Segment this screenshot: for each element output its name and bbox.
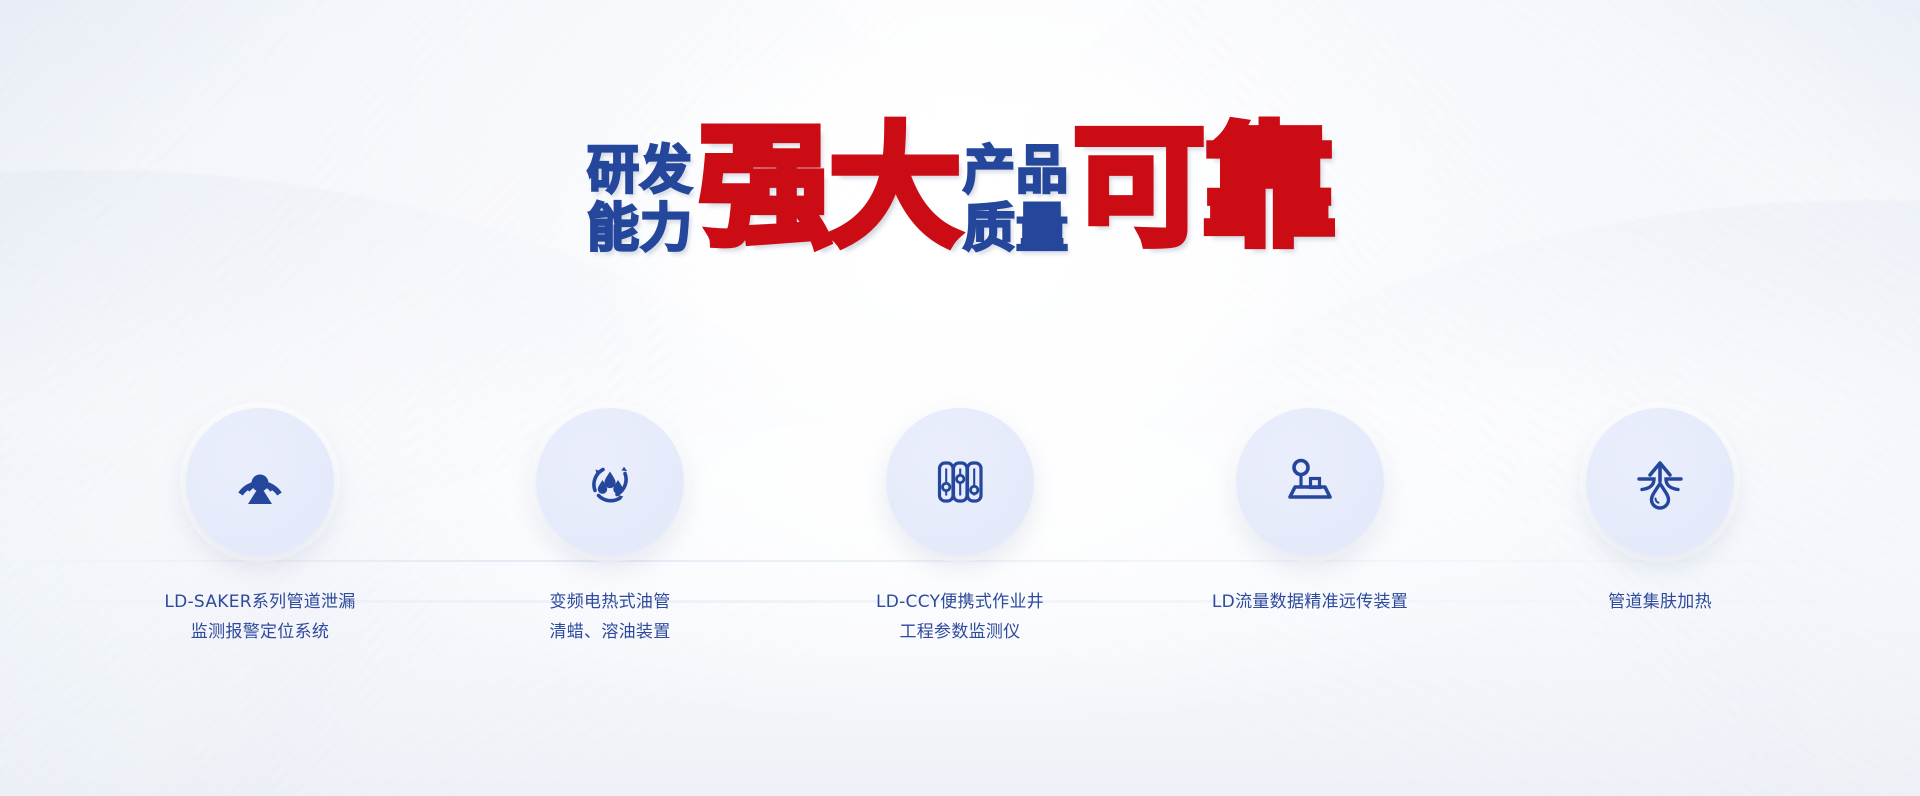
headline-strong-text: 强大 <box>699 128 959 249</box>
product-icon-disc[interactable] <box>1236 408 1384 556</box>
headline-rd-line1: 研发 <box>587 146 693 197</box>
product-list: LD-SAKER系列管道泄漏 监测报警定位系统 <box>0 408 1920 648</box>
product-label: LD-SAKER系列管道泄漏 监测报警定位系统 <box>164 588 355 648</box>
background-swoosh-right-2 <box>920 0 1920 796</box>
signal-broadcast-icon <box>223 445 297 519</box>
arrow-up-droplet-heating-icon <box>1623 445 1697 519</box>
product-icon-disc[interactable] <box>186 408 334 556</box>
product-icon-disc[interactable] <box>536 408 684 556</box>
product-item-pipeline-heating[interactable]: 管道集肤加热 <box>1510 408 1810 618</box>
background-swoosh-left-1 <box>0 0 1159 796</box>
product-icon-disc[interactable] <box>1586 408 1734 556</box>
headline-group-quality: 产品 质量 <box>963 146 1069 255</box>
joystick-control-icon <box>1273 445 1347 519</box>
headline-group-rd: 研发 能力 <box>587 146 693 255</box>
vertical-sliders-icon <box>923 445 997 519</box>
oil-recycle-droplet-icon <box>573 445 647 519</box>
product-label: LD流量数据精准远传装置 <box>1212 588 1408 618</box>
product-label: 管道集肤加热 <box>1608 588 1712 618</box>
headline-quality-line1: 产品 <box>963 146 1069 197</box>
product-label: 变频电热式油管 清蜡、溶油装置 <box>549 588 670 648</box>
product-item-ld-flow[interactable]: LD流量数据精准远传装置 <box>1160 408 1460 618</box>
product-item-ld-saker[interactable]: LD-SAKER系列管道泄漏 监测报警定位系统 <box>110 408 410 648</box>
promo-banner: 研发 能力 强大 产品 质量 可靠 <box>0 0 1920 796</box>
headline: 研发 能力 强大 产品 质量 可靠 <box>0 128 1920 255</box>
product-item-oil-dewaxing[interactable]: 变频电热式油管 清蜡、溶油装置 <box>460 408 760 648</box>
product-label: LD-CCY便携式作业井 工程参数监测仪 <box>876 588 1044 648</box>
headline-rd-line2: 能力 <box>587 204 693 255</box>
product-icon-disc[interactable] <box>886 408 1034 556</box>
headline-quality-line2: 质量 <box>963 204 1069 255</box>
headline-reliable-text: 可靠 <box>1073 128 1333 249</box>
background-swoosh-right-1 <box>855 0 1920 796</box>
product-item-ld-ccy[interactable]: LD-CCY便携式作业井 工程参数监测仪 <box>810 408 1110 648</box>
headline-group-strong: 强大 <box>699 128 959 249</box>
headline-group-reliable: 可靠 <box>1073 128 1333 249</box>
